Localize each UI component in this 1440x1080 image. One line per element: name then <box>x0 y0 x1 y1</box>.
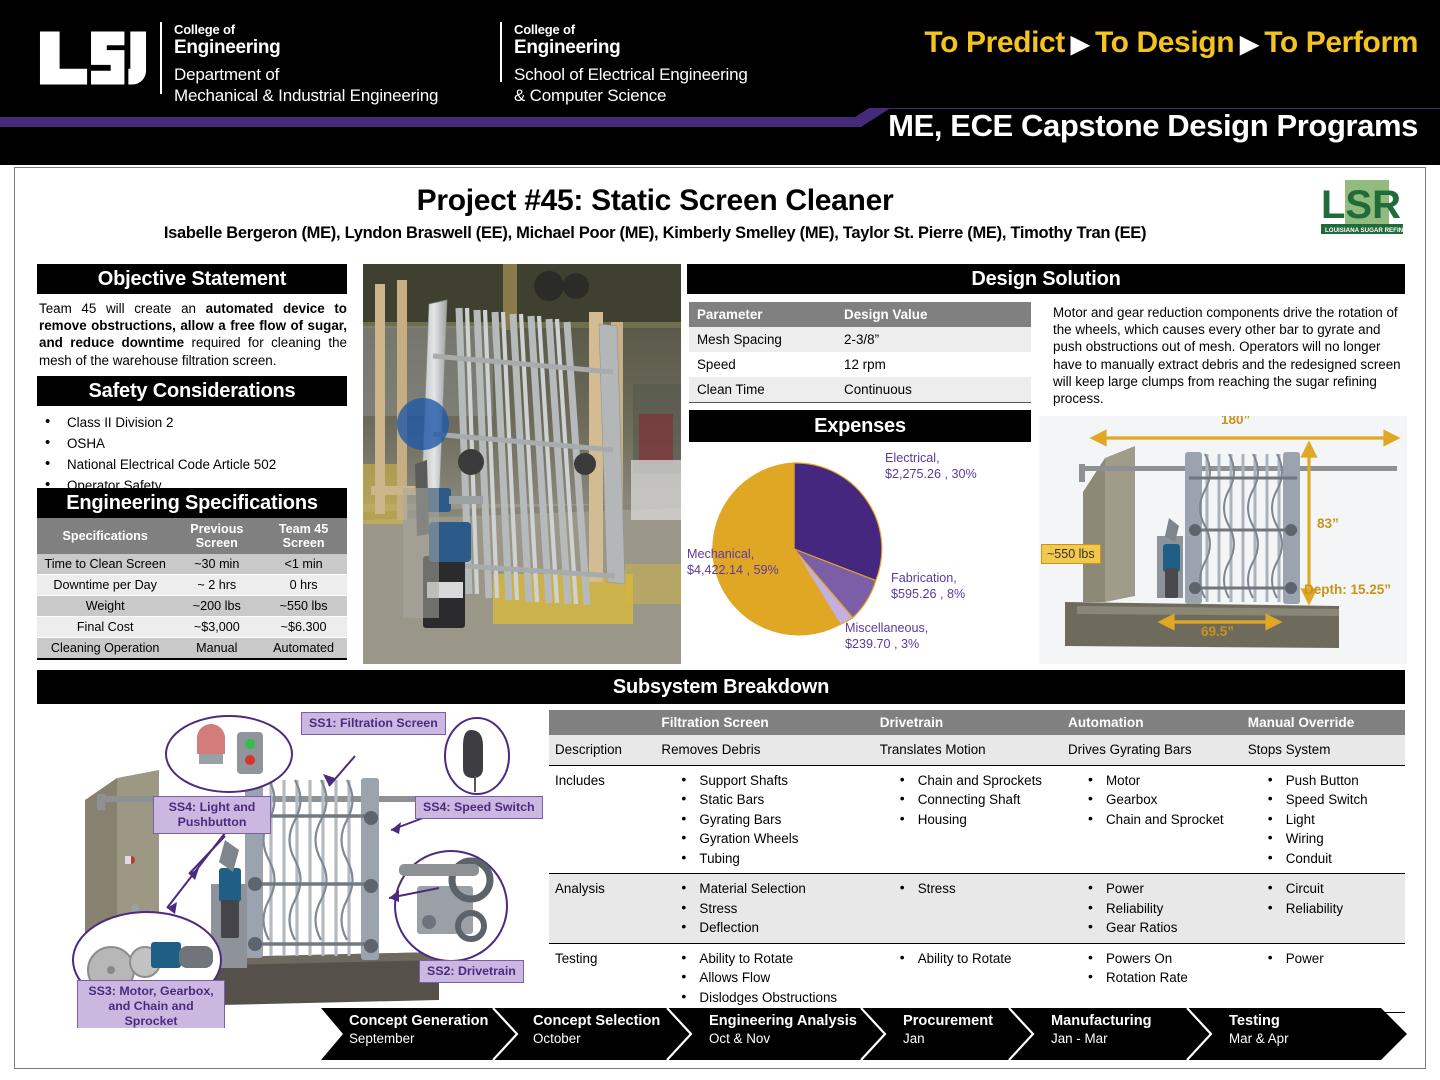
table-row: Includes Support Shafts Static Bars Gyra… <box>549 765 1405 874</box>
pie-label-fabrication-value: $595.26 , 8% <box>891 586 965 602</box>
safety-header: Safety Considerations <box>37 376 347 406</box>
logo-divider-2 <box>500 22 502 82</box>
cell: 2-3/8” <box>836 327 1031 352</box>
page-title: Project #45: Static Screen Cleaner <box>15 184 1295 218</box>
callout-ss2-drivetrain: SS2: Drivetrain <box>419 960 524 983</box>
cell: Power <box>1240 943 1405 1013</box>
specs-col-1: Previous Screen <box>173 518 260 554</box>
logo-divider-1 <box>160 22 162 94</box>
list-item: Rotation Rate <box>1086 968 1232 988</box>
timeline-step-4-name: Procurement <box>903 1013 993 1030</box>
timeline-step-3: Engineering Analysis Oct & Nov <box>709 1013 857 1047</box>
sub-col-2: Drivetrain <box>872 710 1060 735</box>
list-item: Power <box>1086 879 1232 899</box>
tagline-arrow-icon-1: ▶ <box>1065 31 1095 58</box>
pie-label-mechanical: Mechanical, $4,422.14 , 59% <box>687 546 779 578</box>
cell: ~550 lbs <box>260 596 347 617</box>
timeline-step-3-name: Engineering Analysis <box>709 1013 857 1030</box>
table-row: Downtime per Day~ 2 hrs0 hrs <box>37 575 347 596</box>
cell: Push Button Speed Switch Light Wiring Co… <box>1240 765 1405 874</box>
cell: Power Reliability Gear Ratios <box>1060 874 1240 944</box>
timeline-step-5: Manufacturing Jan - Mar <box>1051 1013 1152 1047</box>
cell: <1 min <box>260 554 347 575</box>
cell: ~$3,000 <box>173 617 260 638</box>
cell: Drives Gyrating Bars <box>1060 735 1240 765</box>
list-item: Dislodges Obstructions <box>679 988 863 1008</box>
cell: Cleaning Operation <box>37 638 173 660</box>
dept-ece-line4: & Computer Science <box>514 85 748 106</box>
row-label: Analysis <box>549 874 653 944</box>
cell: Chain and Sprockets Connecting Shaft Hou… <box>872 765 1060 874</box>
table-row: Clean TimeContinuous <box>689 377 1031 403</box>
lsu-logo <box>38 28 148 88</box>
param-col-0: Parameter <box>689 302 836 327</box>
cell: Weight <box>37 596 173 617</box>
pie-label-mechanical-name: Mechanical, <box>687 546 779 562</box>
timeline-step-6: Testing Mar & Apr <box>1229 1013 1289 1047</box>
dept-me-block: College of Engineering Department of Mec… <box>174 22 438 106</box>
list-item: Ability to Rotate <box>679 949 863 969</box>
list-item: Connecting Shaft <box>898 790 1052 810</box>
cell: Support Shafts Static Bars Gyrating Bars… <box>653 765 871 874</box>
subsystem-breakdown-table: Filtration Screen Drivetrain Automation … <box>549 710 1405 1013</box>
cell: Stops System <box>1240 735 1405 765</box>
sub-col-4: Manual Override <box>1240 710 1405 735</box>
list-item: Support Shafts <box>679 771 863 791</box>
timeline-step-6-name: Testing <box>1229 1013 1289 1030</box>
cell: Time to Clean Screen <box>37 554 173 575</box>
project-timeline: Concept Generation September Concept Sel… <box>321 1008 1407 1060</box>
dept-me-line1: College of <box>174 22 438 37</box>
cell: ~ 2 hrs <box>173 575 260 596</box>
callout-ss4-speed-switch: SS4: Speed Switch <box>415 796 543 819</box>
dimension-width-label: 180” <box>1221 416 1250 427</box>
cell: Final Cost <box>37 617 173 638</box>
table-row: Analysis Material Selection Stress Defle… <box>549 874 1405 944</box>
pie-label-electrical-value: $2,275.26 , 30% <box>885 466 977 482</box>
list-item: Material Selection <box>679 879 863 899</box>
expenses-header: Expenses <box>689 410 1031 442</box>
callout-line: SS3: Motor, Gearbox, <box>85 984 217 999</box>
timeline-step-5-name: Manufacturing <box>1051 1013 1152 1030</box>
cell: Manual <box>173 638 260 660</box>
svg-text:LSR: LSR <box>1321 183 1401 227</box>
pie-label-electrical: Electrical, $2,275.26 , 30% <box>885 450 977 482</box>
table-header-row: Specifications Previous Screen Team 45 S… <box>37 518 347 554</box>
table-row: Description Removes Debris Translates Mo… <box>549 735 1405 765</box>
tagline-part2: To Design <box>1095 26 1234 59</box>
timeline-step-1-date: September <box>349 1030 488 1047</box>
lsr-sponsor-logo: LSR LOUISIANA SUGAR REFINING LLC <box>1315 178 1411 240</box>
cell: ~200 lbs <box>173 596 260 617</box>
callout-line: and Chain and Sprocket <box>85 999 217 1028</box>
timeline-step-4: Procurement Jan <box>903 1013 993 1047</box>
list-item: Static Bars <box>679 790 863 810</box>
param-col-1: Design Value <box>836 302 1031 327</box>
poster-canvas: Project #45: Static Screen Cleaner Isabe… <box>14 167 1426 1069</box>
timeline-step-6-date: Mar & Apr <box>1229 1030 1289 1047</box>
pie-label-mechanical-value: $4,422.14 , 59% <box>687 562 779 578</box>
dept-ece-line1: College of <box>514 22 748 37</box>
list-item: Tubing <box>679 849 863 869</box>
specs-col-0: Specifications <box>37 518 173 554</box>
subsystem-diagram: SS1: Filtration Screen SS4: Speed Switch… <box>39 708 547 1028</box>
expenses-pie-chart: Electrical, $2,275.26 , 30% Fabrication,… <box>689 444 1031 662</box>
tagline-part3: To Perform <box>1264 26 1418 59</box>
objective-header: Objective Statement <box>37 264 347 294</box>
dimension-base-width-label: 69.5” <box>1201 624 1234 639</box>
cell: ~$6.300 <box>260 617 347 638</box>
cell: Removes Debris <box>653 735 871 765</box>
tagline: To Predict▶To Design▶To Perform <box>924 26 1418 60</box>
specs-header: Engineering Specifications <box>37 488 347 518</box>
timeline-step-2-name: Concept Selection <box>533 1013 660 1030</box>
cell: Clean Time <box>689 377 836 403</box>
list-item: Deflection <box>679 918 863 938</box>
cell: Mesh Spacing <box>689 327 836 352</box>
table-row: Testing Ability to Rotate Allows Flow Di… <box>549 943 1405 1013</box>
list-item: Powers On <box>1086 949 1232 969</box>
list-item: Speed Switch <box>1266 790 1397 810</box>
pie-label-electrical-name: Electrical, <box>885 450 977 466</box>
safety-list: Class II Division 2 OSHA National Electr… <box>39 412 347 496</box>
list-item: Circuit <box>1266 879 1397 899</box>
design-solution-description: Motor and gear reduction components driv… <box>1053 304 1405 407</box>
list-item: Power <box>1266 949 1397 969</box>
timeline-step-3-date: Oct & Nov <box>709 1030 857 1047</box>
cell: Stress <box>872 874 1060 944</box>
dept-ece-block: College of Engineering School of Electri… <box>514 22 748 106</box>
dept-me-line2: Engineering <box>174 37 438 59</box>
program-title: ME, ECE Capstone Design Programs <box>888 108 1418 144</box>
pie-label-miscellaneous: Miscellaneous, $239.70 , 3% <box>845 620 928 652</box>
list-item: Conduit <box>1266 849 1397 869</box>
list-item: Motor <box>1086 771 1232 791</box>
pie-label-miscellaneous-value: $239.70 , 3% <box>845 636 928 652</box>
callout-ss4-light-pushbutton: SS4: Light and Pushbutton <box>153 796 271 834</box>
row-label: Includes <box>549 765 653 874</box>
cell: Automated <box>260 638 347 660</box>
objective-text: Team 45 will create an automated device … <box>39 300 347 369</box>
engineering-specs-table: Specifications Previous Screen Team 45 S… <box>37 518 347 660</box>
cell: Material Selection Stress Deflection <box>653 874 871 944</box>
list-item: Push Button <box>1266 771 1397 791</box>
table-row: Time to Clean Screen~30 min<1 min <box>37 554 347 575</box>
list-item: Stress <box>679 899 863 919</box>
callout-ss3-motor-gearbox: SS3: Motor, Gearbox, and Chain and Sproc… <box>77 980 225 1028</box>
list-item: Gyrating Bars <box>679 810 863 830</box>
list-item: Reliability <box>1086 899 1232 919</box>
dept-ece-line2: Engineering <box>514 37 748 59</box>
subsystem-breakdown-header: Subsystem Breakdown <box>37 670 1405 704</box>
list-item: Housing <box>898 810 1052 830</box>
tagline-part1: To Predict <box>924 26 1064 59</box>
cell: Motor Gearbox Chain and Sprocket <box>1060 765 1240 874</box>
dimensioned-cad-render: 180” 83” Depth: 15.25” 69.5” ~550 lbs <box>1039 416 1407 664</box>
list-item: OSHA <box>39 433 347 454</box>
timeline-step-1: Concept Generation September <box>349 1013 488 1047</box>
lsr-subtitle: LOUISIANA SUGAR REFINING LLC <box>1325 227 1411 234</box>
row-label: Description <box>549 735 653 765</box>
prototype-photo <box>363 264 681 664</box>
cell: 0 hrs <box>260 575 347 596</box>
dept-me-line4: Mechanical & Industrial Engineering <box>174 85 438 106</box>
weight-label: ~550 lbs <box>1041 544 1101 564</box>
cell: ~30 min <box>173 554 260 575</box>
list-item: Chain and Sprockets <box>898 771 1052 791</box>
row-label: Testing <box>549 943 653 1013</box>
table-row: Weight~200 lbs~550 lbs <box>37 596 347 617</box>
design-parameters-table: Parameter Design Value Mesh Spacing2-3/8… <box>689 302 1031 403</box>
list-item: Light <box>1266 810 1397 830</box>
cell: Continuous <box>836 377 1031 403</box>
callout-line: SS4: Light and <box>161 800 263 815</box>
cell: Translates Motion <box>872 735 1060 765</box>
list-item: Chain and Sprocket <box>1086 810 1232 830</box>
callout-ss1-filtration-screen: SS1: Filtration Screen <box>301 712 446 735</box>
dimension-depth-label: Depth: 15.25” <box>1304 582 1391 597</box>
list-item: Allows Flow <box>679 968 863 988</box>
cell: Circuit Reliability <box>1240 874 1405 944</box>
design-solution-header: Design Solution <box>687 264 1405 294</box>
list-item: Gyration Wheels <box>679 829 863 849</box>
table-row: Cleaning OperationManualAutomated <box>37 638 347 660</box>
list-item: Stress <box>898 879 1052 899</box>
sub-col-1: Filtration Screen <box>653 710 871 735</box>
timeline-step-1-name: Concept Generation <box>349 1013 488 1030</box>
specs-col-2: Team 45 Screen <box>260 518 347 554</box>
author-list: Isabelle Bergeron (ME), Lyndon Braswell … <box>15 224 1295 243</box>
cell: Speed <box>689 352 836 377</box>
cell: 12 rpm <box>836 352 1031 377</box>
list-item: Ability to Rotate <box>898 949 1052 969</box>
timeline-step-5-date: Jan - Mar <box>1051 1030 1152 1047</box>
top-banner: College of Engineering Department of Mec… <box>0 0 1440 165</box>
dept-ece-line3: School of Electrical Engineering <box>514 64 748 85</box>
cell: Ability to Rotate Allows Flow Dislodges … <box>653 943 871 1013</box>
table-row: Final Cost~$3,000~$6.300 <box>37 617 347 638</box>
list-item: Gear Ratios <box>1086 918 1232 938</box>
list-item: Wiring <box>1266 829 1397 849</box>
list-item: Gearbox <box>1086 790 1232 810</box>
sub-col-0 <box>549 710 653 735</box>
callout-line: Pushbutton <box>161 815 263 830</box>
table-header-row: Parameter Design Value <box>689 302 1031 327</box>
dept-me-line3: Department of <box>174 64 438 85</box>
sub-col-3: Automation <box>1060 710 1240 735</box>
table-header-row: Filtration Screen Drivetrain Automation … <box>549 710 1405 735</box>
pie-label-fabrication-name: Fabrication, <box>891 570 965 586</box>
table-row: Mesh Spacing2-3/8” <box>689 327 1031 352</box>
list-item: Class II Division 2 <box>39 412 347 433</box>
cell: Ability to Rotate <box>872 943 1060 1013</box>
tagline-arrow-icon-2: ▶ <box>1234 31 1264 58</box>
pie-label-miscellaneous-name: Miscellaneous, <box>845 620 928 636</box>
dimension-height-label: 83” <box>1317 516 1339 531</box>
timeline-step-2-date: October <box>533 1030 660 1047</box>
pie-label-fabrication: Fabrication, $595.26 , 8% <box>891 570 965 602</box>
table-row: Speed12 rpm <box>689 352 1031 377</box>
cell: Downtime per Day <box>37 575 173 596</box>
list-item: National Electrical Code Article 502 <box>39 454 347 475</box>
timeline-step-4-date: Jan <box>903 1030 993 1047</box>
list-item: Reliability <box>1266 899 1397 919</box>
cell: Powers On Rotation Rate <box>1060 943 1240 1013</box>
timeline-step-2: Concept Selection October <box>533 1013 660 1047</box>
